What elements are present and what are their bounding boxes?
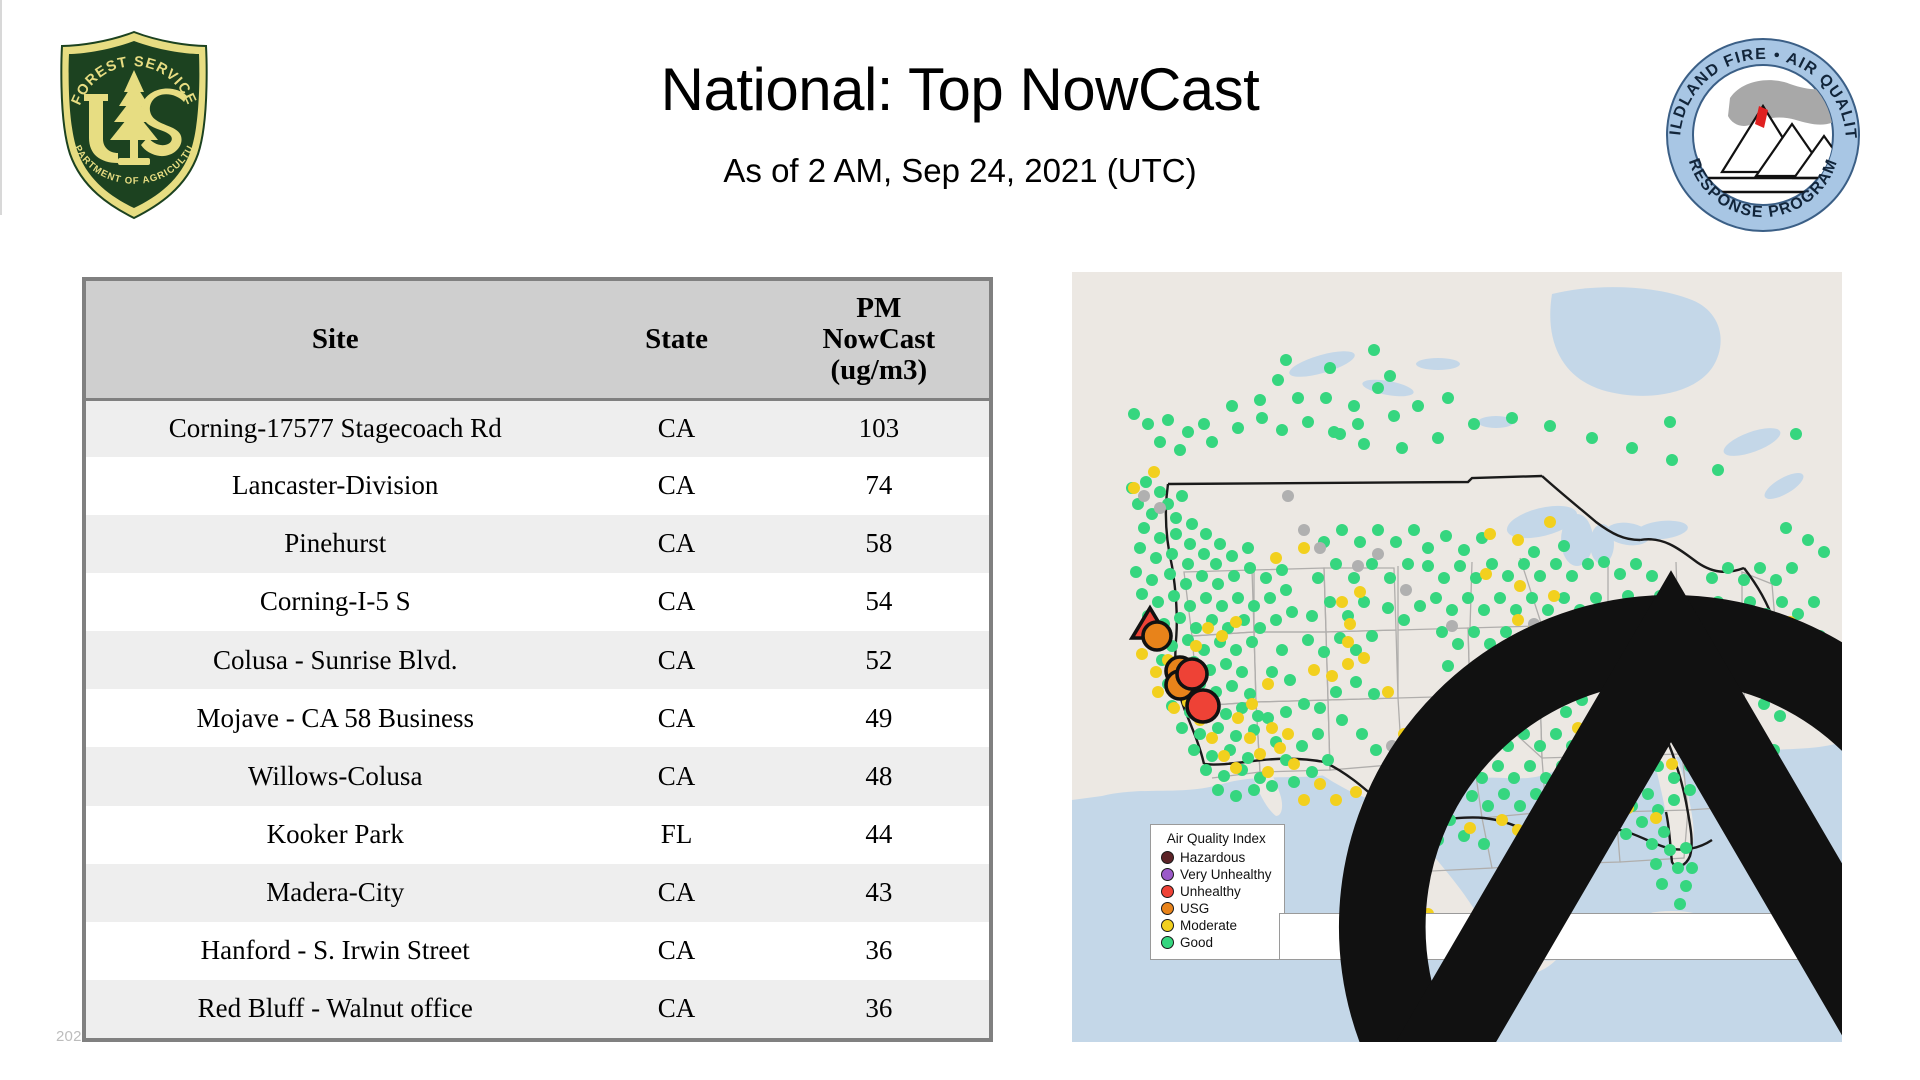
table-cell-pm-nowcast: 36 (769, 922, 989, 980)
table-cell-pm-nowcast: 36 (769, 980, 989, 1038)
aqi-swatch-icon (1161, 851, 1174, 864)
table-cell-state: CA (584, 399, 768, 457)
aqi-legend-label: Moderate (1180, 919, 1237, 933)
aqi-legend-label: USG (1180, 902, 1209, 916)
air-quality-map[interactable]: Air Quality Index HazardousVery Unhealth… (1072, 272, 1842, 1042)
pm-header-line-2: NowCast (775, 324, 983, 355)
column-header-state[interactable]: State (584, 281, 768, 399)
page-edge-line (0, 0, 2, 215)
table-cell-pm-nowcast: 58 (769, 515, 989, 573)
table-row[interactable]: Corning-I-5 SCA54 (86, 573, 989, 631)
table-row[interactable]: Red Bluff - Walnut officeCA36 (86, 980, 989, 1038)
highlight-marker-temporary-unhealthy-central[interactable] (1177, 659, 1207, 689)
table-cell-state: CA (584, 980, 768, 1038)
table-cell-site: Red Bluff - Walnut office (86, 980, 584, 1038)
aqi-legend-item: Hazardous (1161, 849, 1272, 866)
table-cell-pm-nowcast: 48 (769, 747, 989, 805)
wfaqrp-logo: WILDLAND FIRE • AIR QUALITY RESPONSE PRO… (1660, 32, 1866, 238)
table-cell-pm-nowcast: 43 (769, 864, 989, 922)
page-title: National: Top NowCast (480, 55, 1440, 124)
aqi-swatch-icon (1161, 902, 1174, 915)
table-row[interactable]: Willows-ColusaCA48 (86, 747, 989, 805)
table-row[interactable]: Colusa - Sunrise Blvd.CA52 (86, 631, 989, 689)
table-cell-pm-nowcast: 74 (769, 457, 989, 515)
aqi-legend-item: Unhealthy (1161, 883, 1272, 900)
table-cell-state: CA (584, 515, 768, 573)
table-row[interactable]: Mojave - CA 58 BusinessCA49 (86, 689, 989, 747)
table-cell-pm-nowcast: 52 (769, 631, 989, 689)
table-cell-state: CA (584, 573, 768, 631)
page-subtitle: As of 2 AM, Sep 24, 2021 (UTC) (480, 152, 1440, 190)
top-nowcast-table: Site State PM NowCast (ug/m3) Corning-17… (86, 281, 989, 1038)
table-cell-site: Corning-I-5 S (86, 573, 584, 631)
highlight-marker-temporary-usg-norcal[interactable] (1143, 622, 1171, 650)
column-header-site[interactable]: Site (86, 281, 584, 399)
table-cell-state: CA (584, 631, 768, 689)
table-row[interactable]: Madera-CityCA43 (86, 864, 989, 922)
table-row[interactable]: Kooker ParkFL44 (86, 806, 989, 864)
aqi-legend-rows: HazardousVery UnhealthyUnhealthyUSGModer… (1161, 849, 1272, 951)
table-cell-state: CA (584, 747, 768, 805)
aqi-legend-label: Good (1180, 936, 1213, 950)
table-cell-site: Pinehurst (86, 515, 584, 573)
aqi-legend-item: Very Unhealthy (1161, 866, 1272, 883)
aqi-swatch-icon (1161, 936, 1174, 949)
table-cell-pm-nowcast: 54 (769, 573, 989, 631)
aqi-swatch-icon (1161, 919, 1174, 932)
table-header-row: Site State PM NowCast (ug/m3) (86, 281, 989, 399)
triangle-icon (1286, 560, 1842, 1042)
table-row[interactable]: Lancaster-DivisionCA74 (86, 457, 989, 515)
aqi-swatch-icon (1161, 885, 1174, 898)
aqi-legend-label: Very Unhealthy (1180, 868, 1272, 882)
aqi-legend-item: Moderate (1161, 917, 1272, 934)
table-cell-state: CA (584, 864, 768, 922)
table-cell-pm-nowcast: 44 (769, 806, 989, 864)
table-cell-site: Madera-City (86, 864, 584, 922)
table-cell-site: Corning-17577 Stagecoach Rd (86, 399, 584, 457)
table-cell-state: CA (584, 922, 768, 980)
table-cell-site: Mojave - CA 58 Business (86, 689, 584, 747)
aqi-legend-title: Air Quality Index (1161, 831, 1272, 846)
table-cell-site: Willows-Colusa (86, 747, 584, 805)
column-header-pm-nowcast[interactable]: PM NowCast (ug/m3) (769, 281, 989, 399)
table-row[interactable]: PinehurstCA58 (86, 515, 989, 573)
table-cell-pm-nowcast: 103 (769, 399, 989, 457)
table-cell-pm-nowcast: 49 (769, 689, 989, 747)
symbol-legend: temporary permanent (1279, 913, 1842, 960)
table-row[interactable]: Hanford - S. Irwin StreetCA36 (86, 922, 989, 980)
aqi-legend-item: Good (1161, 934, 1272, 951)
slide-root: FOREST SERVICE DEPARTMENT OF AGRICULTURE (0, 0, 1920, 1080)
aqi-legend-label: Hazardous (1180, 851, 1245, 865)
table-body: Corning-17577 Stagecoach RdCA103Lancaste… (86, 399, 989, 1038)
pm-header-line-1: PM (775, 293, 983, 324)
table-header: Site State PM NowCast (ug/m3) (86, 281, 989, 399)
table-cell-state: CA (584, 457, 768, 515)
aqi-legend-item: USG (1161, 900, 1272, 917)
table-row[interactable]: Corning-17577 Stagecoach RdCA103 (86, 399, 989, 457)
table-cell-state: FL (584, 806, 768, 864)
table-cell-site: Colusa - Sunrise Blvd. (86, 631, 584, 689)
table-cell-site: Hanford - S. Irwin Street (86, 922, 584, 980)
aqi-legend-label: Unhealthy (1180, 885, 1241, 899)
aqi-legend: Air Quality Index HazardousVery Unhealth… (1150, 824, 1285, 960)
top-nowcast-table-container: Site State PM NowCast (ug/m3) Corning-17… (82, 277, 993, 1042)
symbol-legend-row-permanent: permanent (1286, 936, 1842, 954)
us-forest-service-logo: FOREST SERVICE DEPARTMENT OF AGRICULTURE (48, 26, 220, 222)
pm-header-line-3: (ug/m3) (775, 355, 983, 386)
aqi-swatch-icon (1161, 868, 1174, 881)
table-cell-site: Lancaster-Division (86, 457, 584, 515)
table-cell-site: Kooker Park (86, 806, 584, 864)
table-cell-state: CA (584, 689, 768, 747)
highlight-marker-temporary-unhealthy-socal[interactable] (1187, 690, 1219, 722)
